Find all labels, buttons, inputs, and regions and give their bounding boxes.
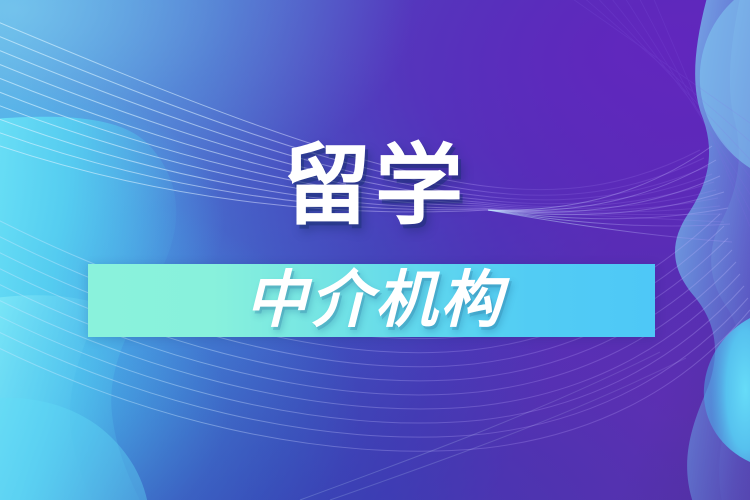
headline-secondary: 中介机构 [0, 269, 750, 333]
headline-block: 留学 中介机构 [0, 0, 750, 500]
promo-banner: 留学 中介机构 [0, 0, 750, 500]
headline-primary: 留学 [0, 142, 750, 230]
